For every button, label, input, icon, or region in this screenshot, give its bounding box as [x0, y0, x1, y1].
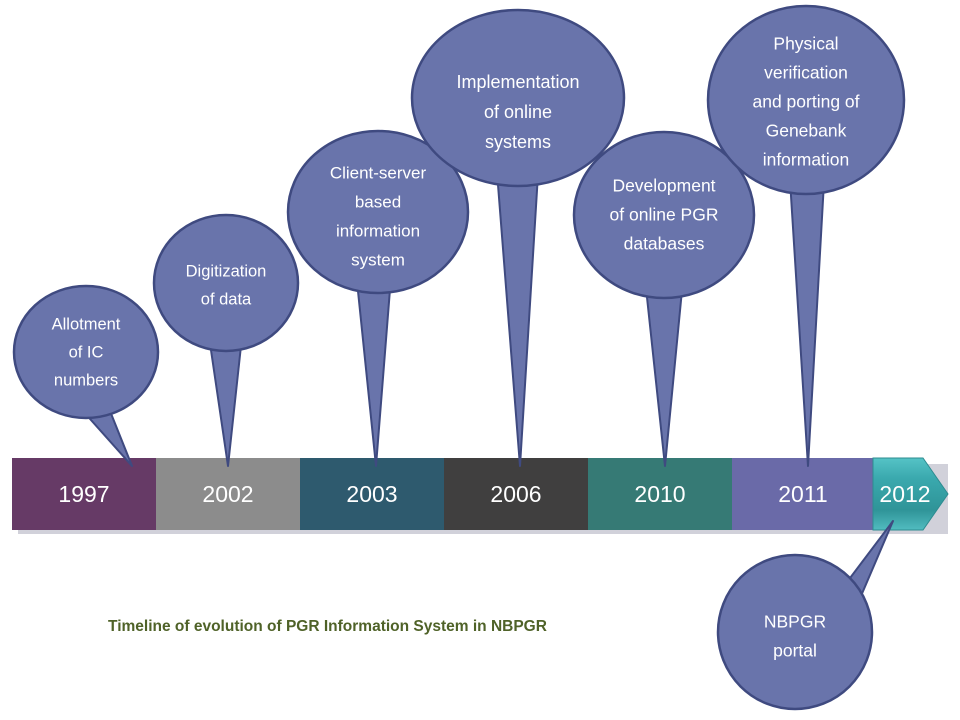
callout-1997-line-1: Allotment [52, 315, 121, 333]
year-label-2006: 2006 [490, 481, 541, 507]
callout-2010[interactable]: Development of online PGR databases [574, 132, 754, 466]
year-label-2003: 2003 [346, 481, 397, 507]
callout-2006-line-1: Implementation [456, 72, 579, 92]
callout-2012-line-1: NBPGR [764, 612, 826, 632]
callout-2003[interactable]: Client-server based information system [288, 131, 468, 466]
callout-1997-line-3: numbers [54, 371, 118, 389]
year-label-2002: 2002 [202, 481, 253, 507]
callout-2012-line-2: portal [773, 641, 817, 661]
callout-2012-bubble [718, 555, 872, 709]
callout-2002-line-2: of data [201, 290, 252, 308]
year-label-2012: 2012 [879, 481, 930, 507]
callout-2010-tail [646, 288, 682, 466]
callout-2011-line-1: Physical [773, 34, 838, 54]
callout-2011-tail [790, 180, 824, 466]
year-label-2010: 2010 [634, 481, 685, 507]
callout-2011-line-4: Genebank [766, 121, 847, 141]
callout-2010-line-1: Development [612, 176, 715, 196]
callout-2010-line-3: databases [624, 234, 705, 254]
callout-2003-line-3: information [336, 221, 420, 240]
timeline-figure: 1997 2002 2003 2006 2010 2011 2012 Allot… [0, 0, 960, 720]
callout-2002-bubble [154, 215, 298, 351]
callout-2003-line-2: based [355, 192, 401, 211]
callout-2011-line-3: and porting of [752, 92, 859, 112]
figure-caption: Timeline of evolution of PGR Information… [108, 618, 547, 635]
timeline-diagram: 1997 2002 2003 2006 2010 2011 2012 Allot… [0, 0, 960, 720]
year-label-2011: 2011 [778, 481, 827, 507]
callout-2006-bubble [412, 10, 624, 186]
callout-2003-line-1: Client-server [330, 163, 427, 182]
callout-2003-line-4: system [351, 250, 405, 269]
callout-2006-line-3: systems [485, 132, 551, 152]
callout-2002-line-1: Digitization [186, 262, 267, 280]
callout-2010-line-2: of online PGR [610, 205, 719, 225]
callout-2002[interactable]: Digitization of data [154, 215, 298, 466]
year-label-1997: 1997 [58, 481, 109, 507]
callout-2012[interactable]: NBPGR portal [718, 521, 893, 709]
callout-1997[interactable]: Allotment of IC numbers [14, 286, 158, 466]
callout-1997-line-2: of IC [69, 343, 104, 361]
callout-2011-line-2: verification [764, 63, 848, 83]
callout-2006-line-2: of online [484, 102, 552, 122]
callout-2006-tail [497, 172, 538, 466]
callout-2011-line-5: information [763, 150, 850, 170]
